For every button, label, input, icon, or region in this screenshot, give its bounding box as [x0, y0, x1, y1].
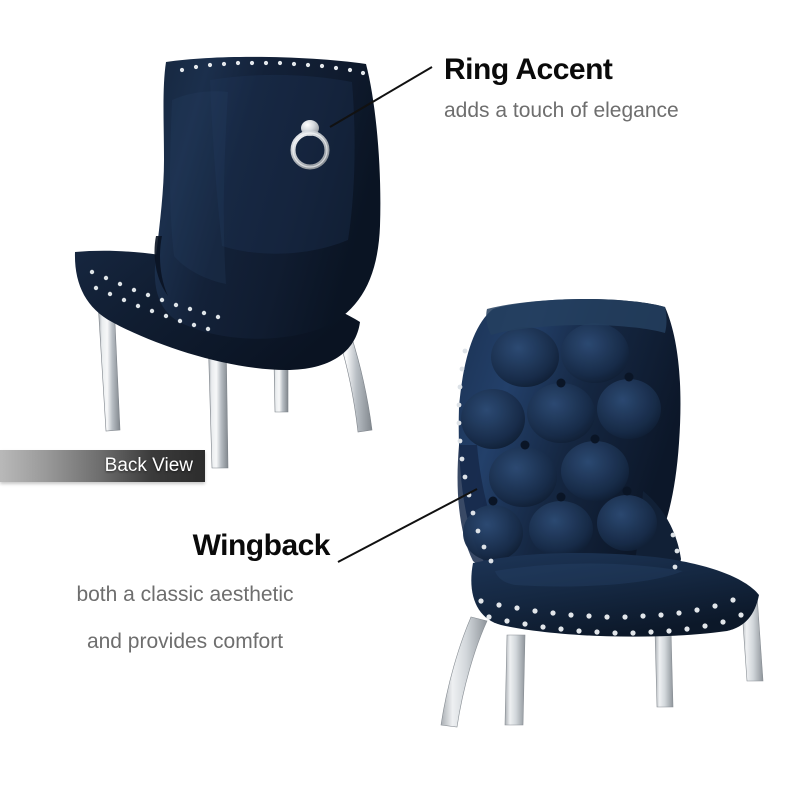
- infographic-canvas: Ring Accent adds a touch of elegance Win…: [0, 0, 800, 800]
- callout-wingback: Wingback both a classic aesthetic and pr…: [30, 528, 340, 658]
- callout-ring-accent-subtitle: adds a touch of elegance: [444, 96, 679, 126]
- back-view-ribbon-label: Back View: [105, 455, 193, 477]
- callout-wingback-subtitle-line-2: and provides comfort: [30, 625, 340, 658]
- callout-wingback-subtitle-line-1: both a classic aesthetic: [30, 578, 340, 611]
- callout-ring-accent: Ring Accent adds a touch of elegance: [444, 52, 679, 126]
- back-view-ribbon: Back View: [0, 450, 205, 482]
- callout-wingback-title: Wingback: [30, 528, 340, 564]
- chair-back-view-image: [60, 40, 410, 470]
- chair-front-view-image: [415, 295, 785, 735]
- callout-ring-accent-title: Ring Accent: [444, 52, 679, 88]
